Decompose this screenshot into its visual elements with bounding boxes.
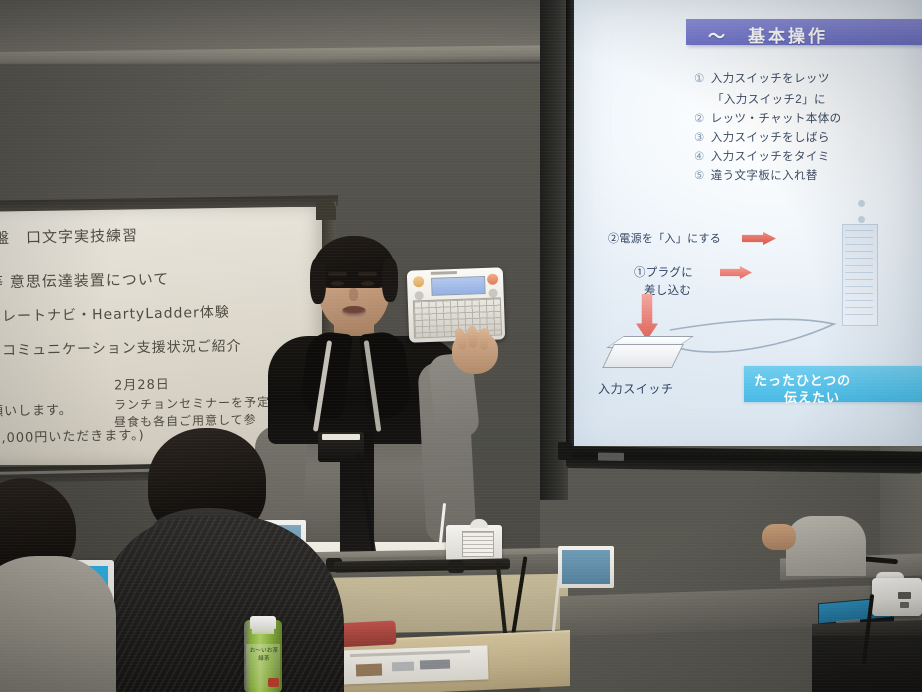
down-arrow-icon (636, 294, 658, 340)
presenter-eye-left (331, 281, 344, 286)
receiver-knob (470, 519, 488, 528)
slide-list-item: ⑤ 違う文字板に入れ替 (694, 169, 922, 183)
screen-bottom-weight-bar (566, 446, 922, 474)
presenter-hair-right (382, 258, 398, 302)
presenter-eye-right (361, 281, 374, 286)
list-text: 入力スイッチをレッツ (711, 72, 830, 86)
whiteboard-line-5: 2月28日 (114, 373, 170, 393)
slide-list-item: ③ 入力スイッチをしばら (694, 131, 922, 145)
bottle-cap (250, 616, 276, 629)
presenter-hair-left (310, 258, 326, 304)
list-number: ④ (694, 150, 705, 164)
screen-left-edge (566, 0, 574, 464)
device-knob-gray-right (488, 289, 497, 298)
projector-port (898, 592, 911, 599)
device-knob-red (487, 274, 498, 285)
presenter-eyebrow-left (328, 272, 347, 276)
bottle-label-badge (268, 678, 279, 687)
whiteboard-corner (316, 200, 336, 220)
screen-surface: ～ 基本操作 ① 入力スイッチをレッツ 「入力スイッチ2」に ② レッツ・チャッ… (574, 0, 922, 446)
name-badge-label (322, 434, 360, 440)
slide-label-power-on: ②電源を「入」にする (608, 230, 721, 246)
projection-screen: ～ 基本操作 ① 入力スイッチをレッツ 「入力スイッチ2」に ② レッツ・チャッ… (566, 0, 922, 490)
attendee-left-body (0, 556, 116, 692)
list-number: ① (694, 72, 705, 86)
screen-brand-logo (598, 453, 624, 461)
bottle-label-text: お～いお茶 緑茶 (249, 648, 279, 664)
slide-device-keys (845, 230, 873, 318)
slide-title: ～ 基本操作 (708, 22, 922, 47)
whiteboard-line-8: お願いします。 (0, 399, 73, 420)
slide-label-plug-line1: ①プラグに (634, 264, 693, 280)
slide-cable-illustration (658, 284, 848, 370)
slide-numbered-list: ① 入力スイッチをレッツ 「入力スイッチ2」に ② レッツ・チャット本体の ③ … (694, 72, 922, 188)
handout-image-1 (356, 664, 382, 677)
slide-dot-icon (858, 216, 865, 223)
presenter-mouth (342, 306, 366, 317)
presentation-slide: ～ 基本操作 ① 入力スイッチをレッツ 「入力スイッチ2」に ② レッツ・チャッ… (574, 0, 922, 446)
handout-image-2 (392, 662, 414, 672)
whiteboard-line-1: 字盤 口文字実技練習 (0, 224, 138, 248)
wall-shadow-column (540, 0, 568, 500)
device-knob-orange (413, 276, 424, 287)
slide-input-switch-body (602, 344, 684, 368)
whiteboard-line-9: 千(1,000円いただきます。) (0, 424, 145, 446)
screen-bar-endcap (558, 442, 572, 460)
device-knob-gray-left (415, 291, 424, 300)
list-number: ② (694, 112, 705, 126)
slide-label-input-switch: 入力スイッチ (598, 380, 674, 397)
list-text: レッツ・チャット本体の (711, 112, 842, 126)
presenter-nose (349, 288, 358, 301)
presenter-eyebrow-right (358, 272, 377, 276)
slide-callout-line2: 伝えたい (784, 387, 840, 406)
right-arrow-icon (720, 266, 752, 279)
list-text: 違う文字板に入れ替 (711, 169, 818, 183)
projector-port-secondary (900, 602, 909, 608)
list-text: 入力スイッチをタイミ (711, 150, 830, 164)
slide-list-item: ① 入力スイッチをレッツ (694, 72, 922, 86)
monitor-right-screen (562, 550, 610, 584)
slide-dot-icon (858, 200, 865, 207)
handout-image-3 (420, 659, 450, 669)
right-arrow-icon (742, 232, 776, 245)
list-number: ⑤ (694, 169, 705, 183)
whiteboard-line-2: ト等 意思伝達装置について (0, 268, 170, 293)
attendee-right-arm (762, 524, 796, 550)
presenter-finger (467, 326, 478, 349)
microphone-bar-cap-right (448, 560, 464, 573)
device-lcd-screen (431, 276, 486, 296)
list-number: ③ (694, 131, 705, 145)
device-brand-mark (431, 271, 457, 275)
slide-list-item: ④ 入力スイッチをタイミ (694, 150, 922, 164)
classroom-presentation-photo: 字盤 口文字実技練習 ト等 意思伝達装置について オペレートナビ・HeartyL… (0, 0, 922, 692)
list-text: 入力スイッチをしばら (711, 131, 830, 145)
attendee-right-back (786, 516, 866, 576)
receiver-grill (462, 531, 494, 557)
slide-list-item-continuation: 「入力スイッチ2」に (712, 91, 922, 107)
projector (872, 578, 922, 616)
slide-list-item: ② レッツ・チャット本体の (694, 112, 922, 126)
